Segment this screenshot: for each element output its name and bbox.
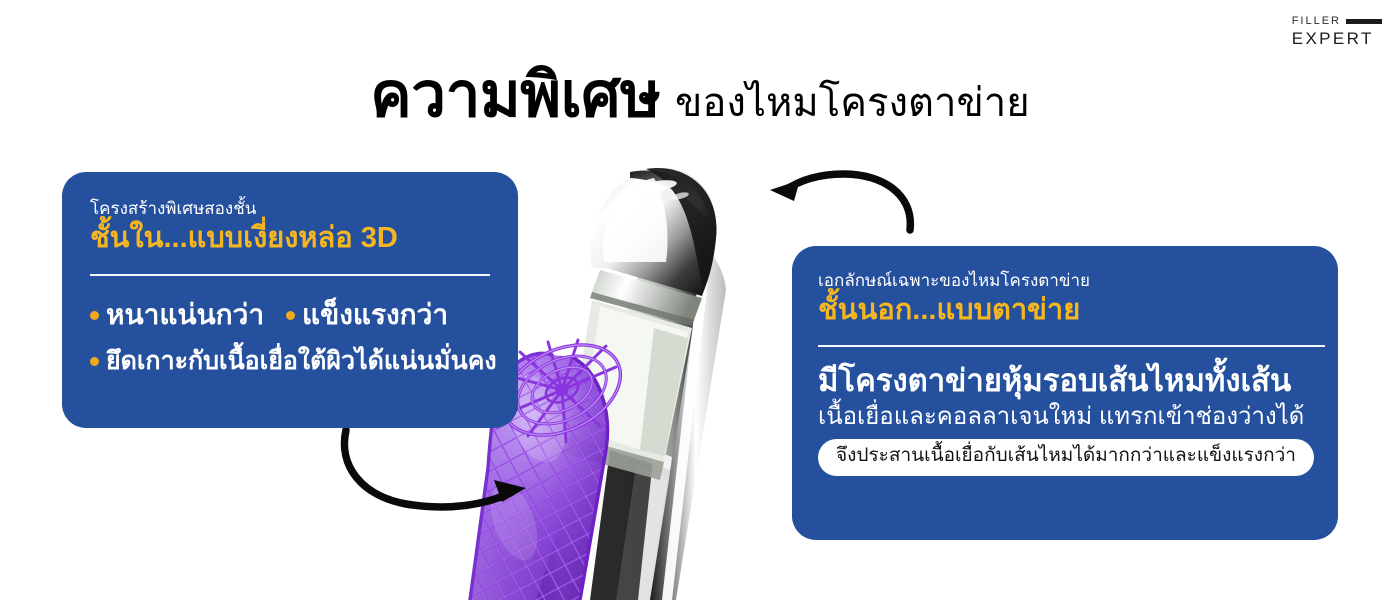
divider xyxy=(818,345,1325,347)
outer-layer-card: เอกลักษณ์เฉพาะของไหมโครงตาข่าย ชั้นนอก..… xyxy=(792,246,1338,540)
list-item: หนาแน่นกว่า xyxy=(90,293,264,337)
outer-layer-highlight-pill: จึงประสานเนื้อเยื่อกับเส้นไหมได้มากกว่าแ… xyxy=(818,439,1314,476)
list-item-label: หนาแน่นกว่า xyxy=(106,293,264,337)
page-title: ความพิเศษ ของไหมโครงตาข่าย xyxy=(0,46,1400,144)
brand-name-expert: EXPERT xyxy=(1292,30,1382,47)
brand-logo-top-row: FILLER xyxy=(1292,16,1382,27)
list-item: แข็งแรงกว่า xyxy=(286,293,448,337)
infographic-canvas: FILLER EXPERT ความพิเศษ ของไหมโครงตาข่าย xyxy=(0,0,1400,600)
page-title-bold: ความพิเศษ xyxy=(370,61,660,130)
divider xyxy=(90,274,490,276)
outer-layer-title: ชั้นนอก...แบบตาข่าย xyxy=(818,293,1312,328)
brand-name-filler: FILLER xyxy=(1292,16,1341,27)
list-item-label: แข็งแรงกว่า xyxy=(302,293,448,337)
outer-layer-subheading: เนื้อเยื่อและคอลลาเจนใหม่ แทรกเข้าช่องว่… xyxy=(818,403,1312,432)
list-item: ยึดเกาะกับเนื้อเยื่อใต้ผิวได้แน่นมั่นคง xyxy=(90,341,490,381)
inner-layer-card: โครงสร้างพิเศษสองชั้น ชั้นใน...แบบเงี่ยง… xyxy=(62,172,518,428)
horizontal-bar-icon xyxy=(1346,19,1382,24)
bullet-dot-icon xyxy=(90,311,99,320)
bullet-dot-icon xyxy=(286,311,295,320)
inner-layer-title: ชั้นใน...แบบเงี่ยงหล่อ 3D xyxy=(90,221,490,256)
inner-layer-bullet-row: หนาแน่นกว่า แข็งแรงกว่า xyxy=(90,293,490,337)
curved-arrow-right-icon xyxy=(328,418,556,540)
list-item-label: ยึดเกาะกับเนื้อเยื่อใต้ผิวได้แน่นมั่นคง xyxy=(106,341,497,381)
brand-logo: FILLER EXPERT xyxy=(1292,16,1382,47)
outer-layer-heading: มีโครงตาข่ายหุ้มรอบเส้นไหมทั้งเส้น xyxy=(818,363,1312,399)
bullet-dot-icon xyxy=(90,357,99,366)
inner-layer-kicker: โครงสร้างพิเศษสองชั้น xyxy=(90,198,490,219)
outer-layer-kicker: เอกลักษณ์เฉพาะของไหมโครงตาข่าย xyxy=(818,270,1312,291)
page-title-light: ของไหมโครงตาข่าย xyxy=(675,81,1030,125)
